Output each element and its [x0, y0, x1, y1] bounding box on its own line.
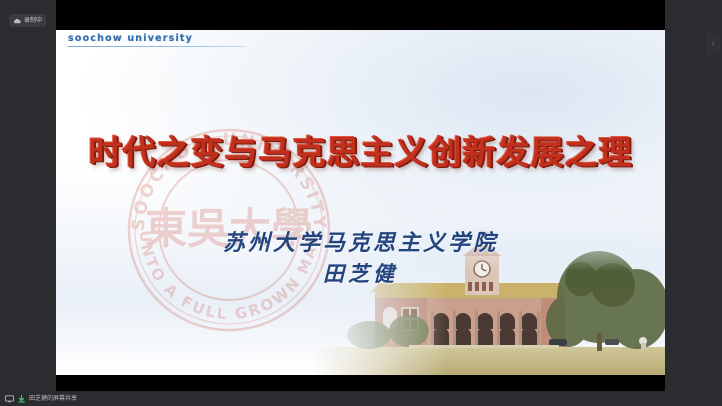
panel-collapse-handle[interactable]: ‹ [706, 33, 720, 55]
slide-canvas: SOOCHOW UNIVERSITY UNTO A FULL GROWN MAN… [56, 30, 665, 375]
brand-text: soochow university [68, 33, 258, 44]
recording-label: 录制中 [24, 18, 42, 24]
recording-badge[interactable]: 录制中 [9, 14, 46, 27]
share-status-bar: 田芝健的屏幕共享 [0, 391, 722, 406]
slide-subtitle-institution: 苏州大学马克思主义学院 [56, 225, 665, 257]
presentation-stage: SOOCHOW UNIVERSITY UNTO A FULL GROWN MAN… [56, 0, 665, 392]
monitor-icon [5, 395, 14, 403]
slide-subtitle-presenter: 田芝健 [56, 258, 665, 288]
screen-share-window: 录制中 SOOCHOW UNIVERSITY [0, 0, 722, 406]
download-arrow-icon[interactable] [17, 395, 26, 403]
slide-title: 时代之变与马克思主义创新发展之理 [56, 126, 665, 174]
chevron-left-icon: ‹ [711, 39, 714, 49]
cloud-icon [13, 18, 21, 24]
share-status-label: 田芝健的屏幕共享 [29, 396, 77, 402]
brand-underline [68, 46, 246, 47]
slide-brand: soochow university [68, 33, 258, 47]
